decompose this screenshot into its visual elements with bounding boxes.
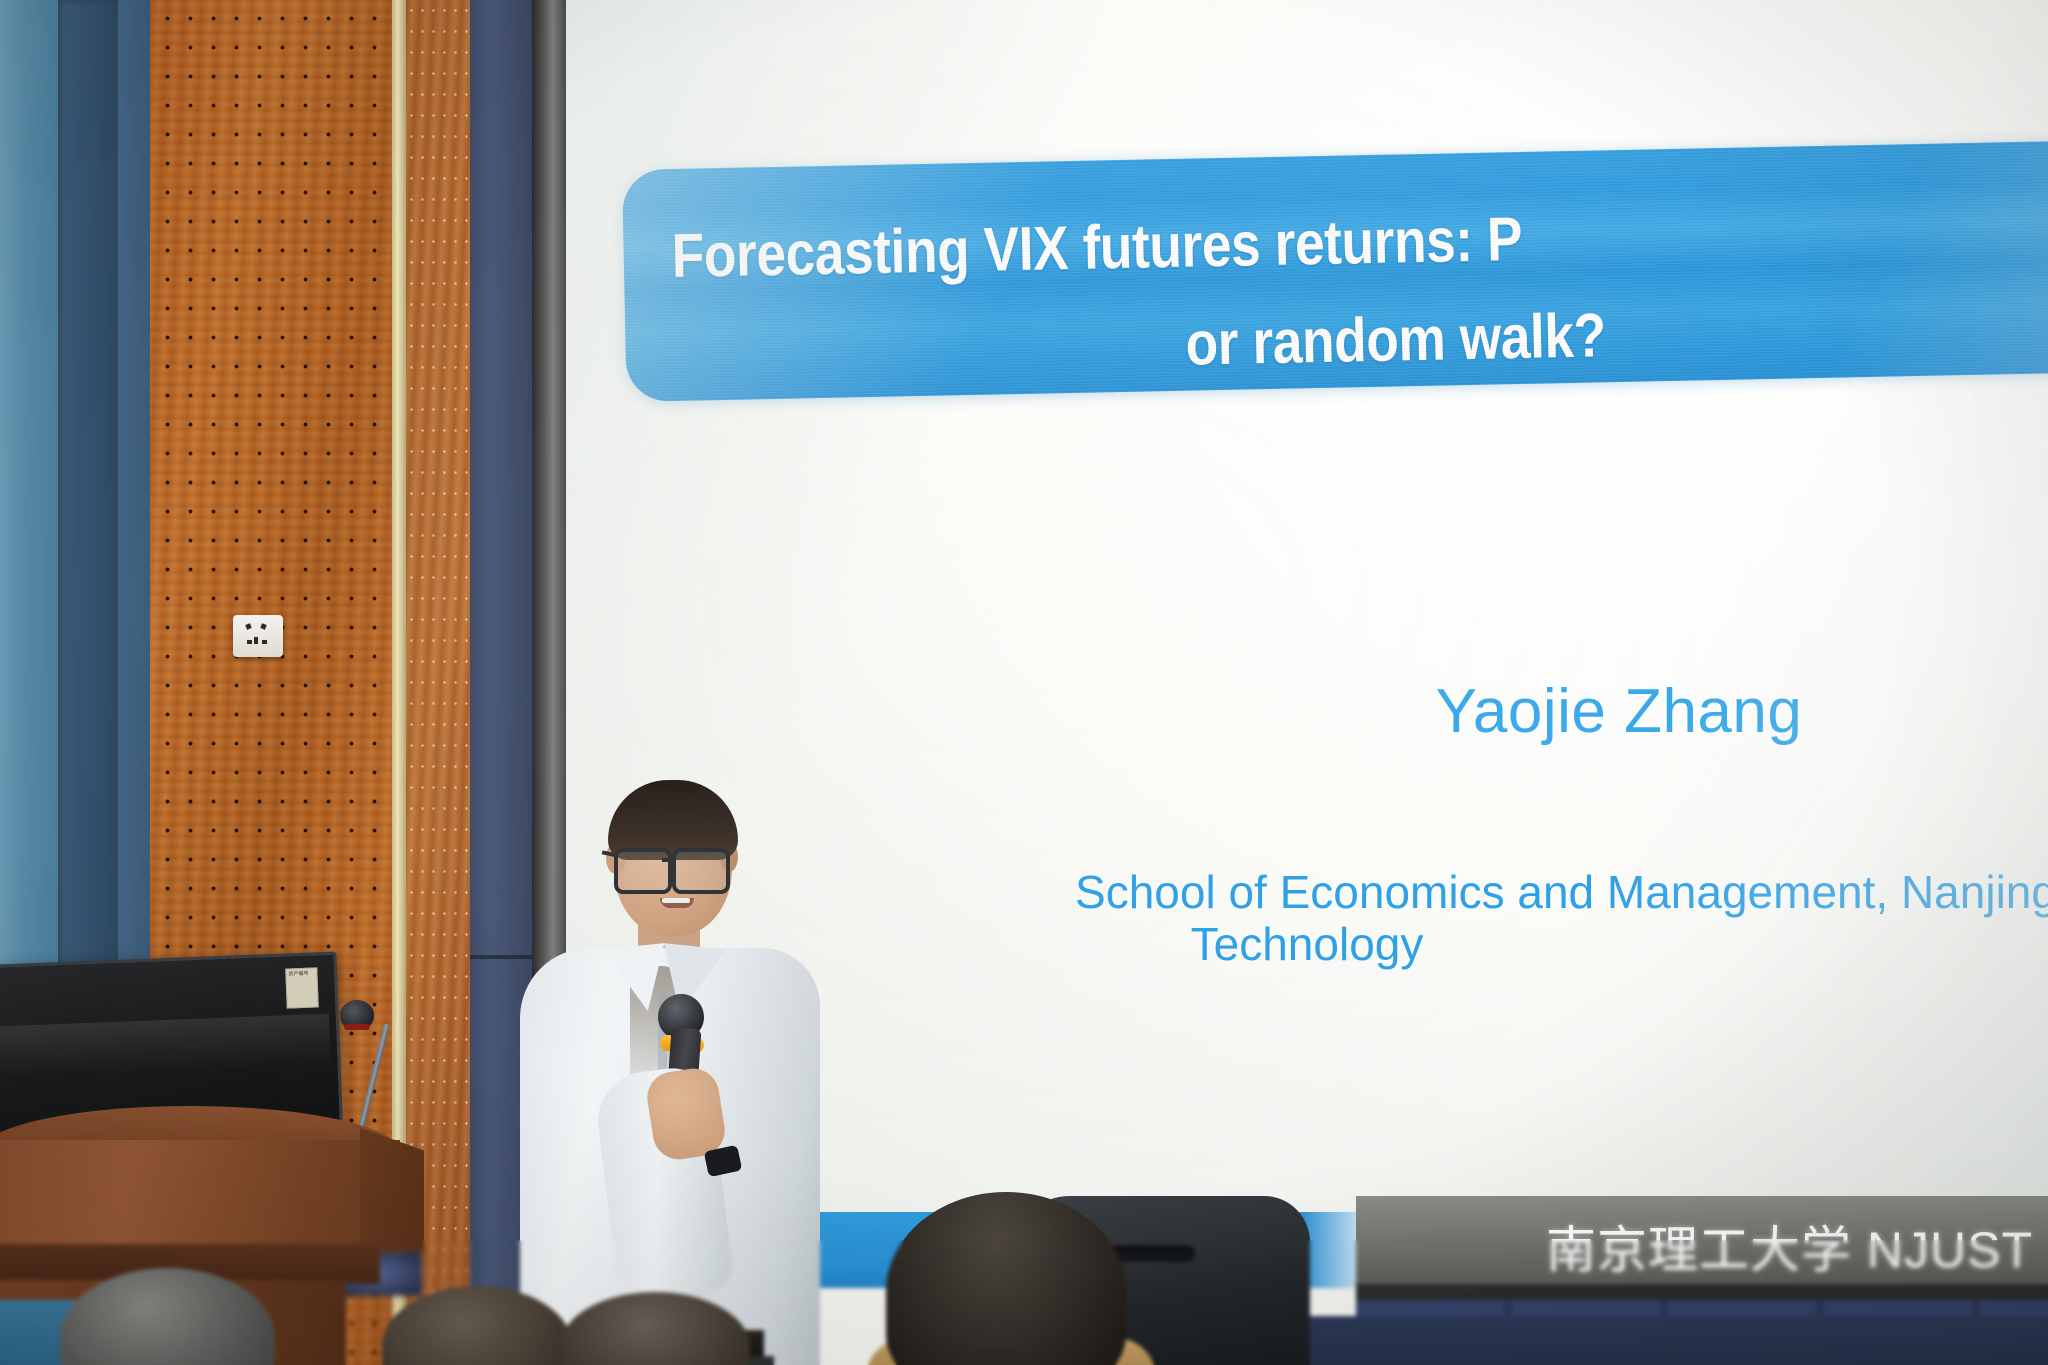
asset-label-sticker: 资产编号 xyxy=(285,967,319,1008)
speaker-teeth xyxy=(662,898,690,903)
speaker-figure xyxy=(510,770,840,1365)
university-name-label: 南京理工大学 NJUST xyxy=(1546,1210,2033,1282)
photo-scene: Forecasting VIX futures returns: P or ra… xyxy=(0,0,2048,1365)
venue-signage-band: 南京理工大学 NJUST xyxy=(1356,1196,2048,1284)
eyeglasses-lens-right xyxy=(672,848,730,894)
power-outlet-icon xyxy=(233,615,283,657)
eyeglasses-lens-left xyxy=(614,848,672,894)
stage-riser xyxy=(1270,1316,2048,1365)
microphone-indicator xyxy=(344,1024,370,1030)
podium-body xyxy=(0,1140,400,1252)
eyeglasses-bridge xyxy=(662,858,676,862)
